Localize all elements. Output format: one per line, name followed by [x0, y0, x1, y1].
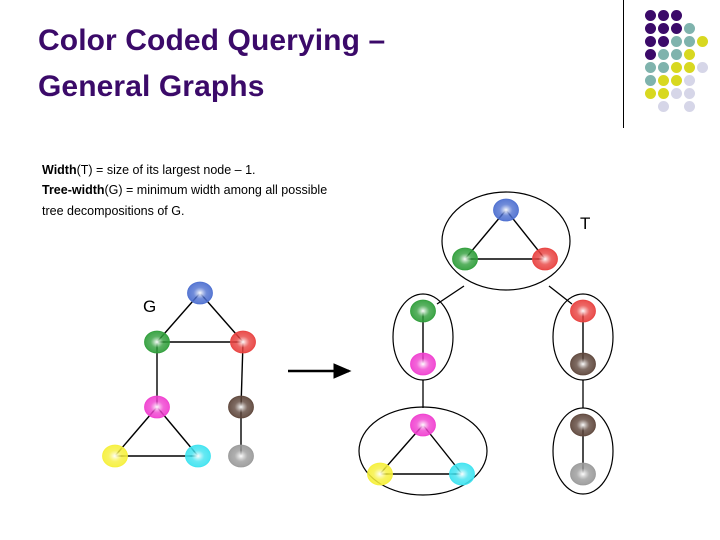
node-red: [533, 248, 558, 270]
graph-g-nodes: [103, 282, 256, 467]
tree-bag-outlines: [359, 192, 613, 495]
node-blue: [494, 199, 519, 221]
node-yellow: [368, 463, 393, 485]
node-gray: [229, 445, 254, 467]
tree-bag-links: [423, 286, 583, 408]
node-green: [453, 248, 478, 270]
node-brown: [229, 396, 254, 418]
node-pink: [145, 396, 170, 418]
tree-inner-edges: [380, 210, 583, 474]
node-brown: [571, 353, 596, 375]
node-yellow: [103, 445, 128, 467]
node-cyan: [186, 445, 211, 467]
node-green: [411, 300, 436, 322]
node-pink: [411, 414, 436, 436]
figure-canvas: [0, 0, 720, 540]
node-gray: [571, 463, 596, 485]
tree-bag-link: [437, 286, 464, 304]
node-red: [571, 300, 596, 322]
tree-nodes: [368, 199, 596, 485]
tree-bag-link: [549, 286, 572, 304]
graph-g-edges: [115, 293, 243, 456]
node-blue: [188, 282, 213, 304]
node-cyan: [450, 463, 475, 485]
node-green: [145, 331, 170, 353]
node-pink: [411, 353, 436, 375]
node-red: [231, 331, 256, 353]
node-brown: [571, 414, 596, 436]
